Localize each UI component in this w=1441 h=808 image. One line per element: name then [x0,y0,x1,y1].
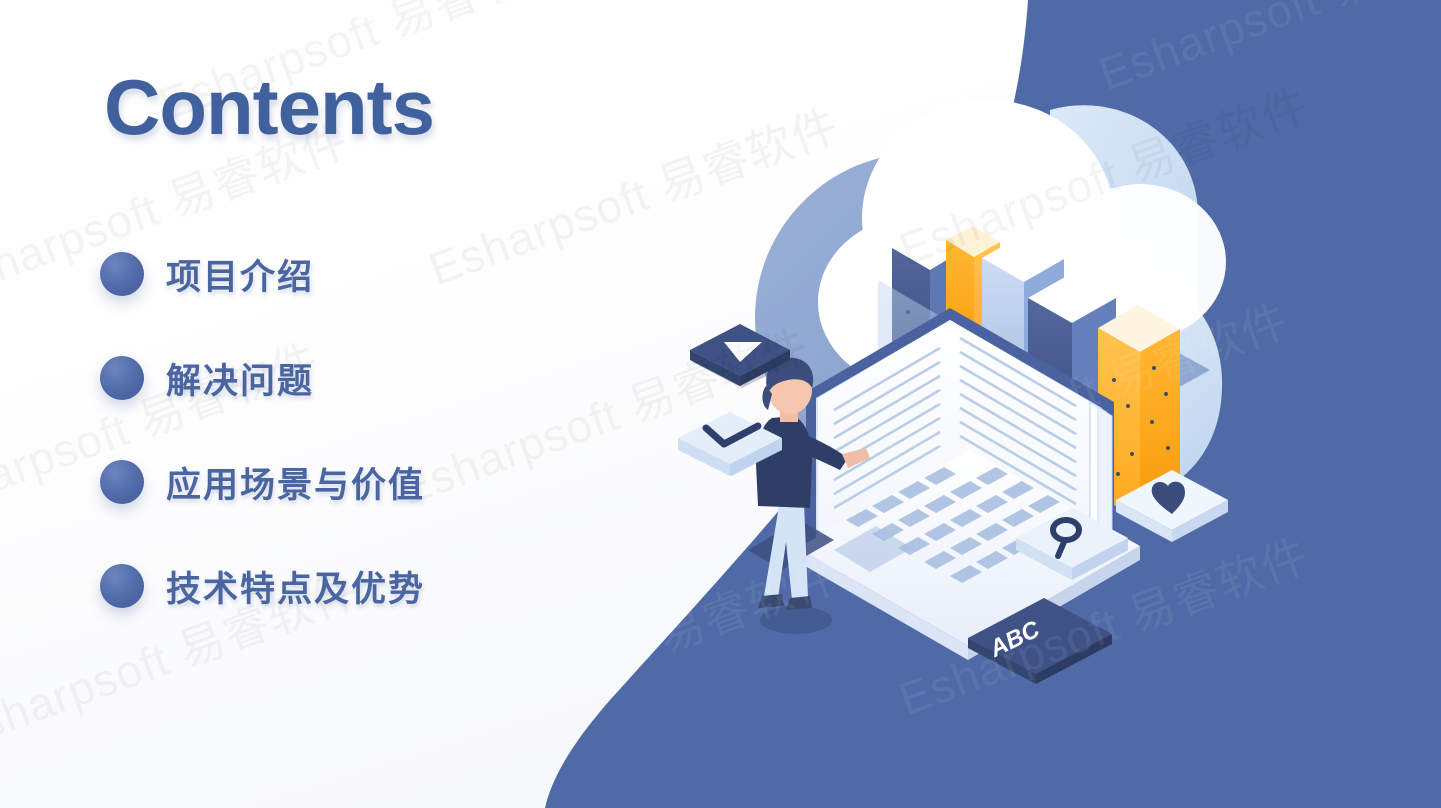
bullet-dot-icon [100,564,144,608]
contents-item-2[interactable]: 解决问题 [100,326,425,430]
slide-canvas: ABC Esharpsoft 易睿软件 Esharpsoft 易睿软件 Esha… [0,0,1441,808]
contents-item-3[interactable]: 应用场景与价值 [100,430,425,534]
contents-item-1[interactable]: 项目介绍 [100,222,425,326]
contents-item-4[interactable]: 技术特点及优势 [100,534,425,638]
page-title: Contents [104,68,434,146]
bullet-dot-icon [100,460,144,504]
bullet-dot-icon [100,356,144,400]
contents-list: 项目介绍 解决问题 应用场景与价值 技术特点及优势 [100,222,425,638]
contents-item-label: 技术特点及优势 [166,561,425,612]
contents-item-label: 解决问题 [166,353,314,404]
contents-item-label: 应用场景与价值 [166,457,425,508]
illustration-isometric-cloud-laptop: ABC [620,50,1320,690]
bullet-dot-icon [100,252,144,296]
contents-item-label: 项目介绍 [166,249,314,300]
